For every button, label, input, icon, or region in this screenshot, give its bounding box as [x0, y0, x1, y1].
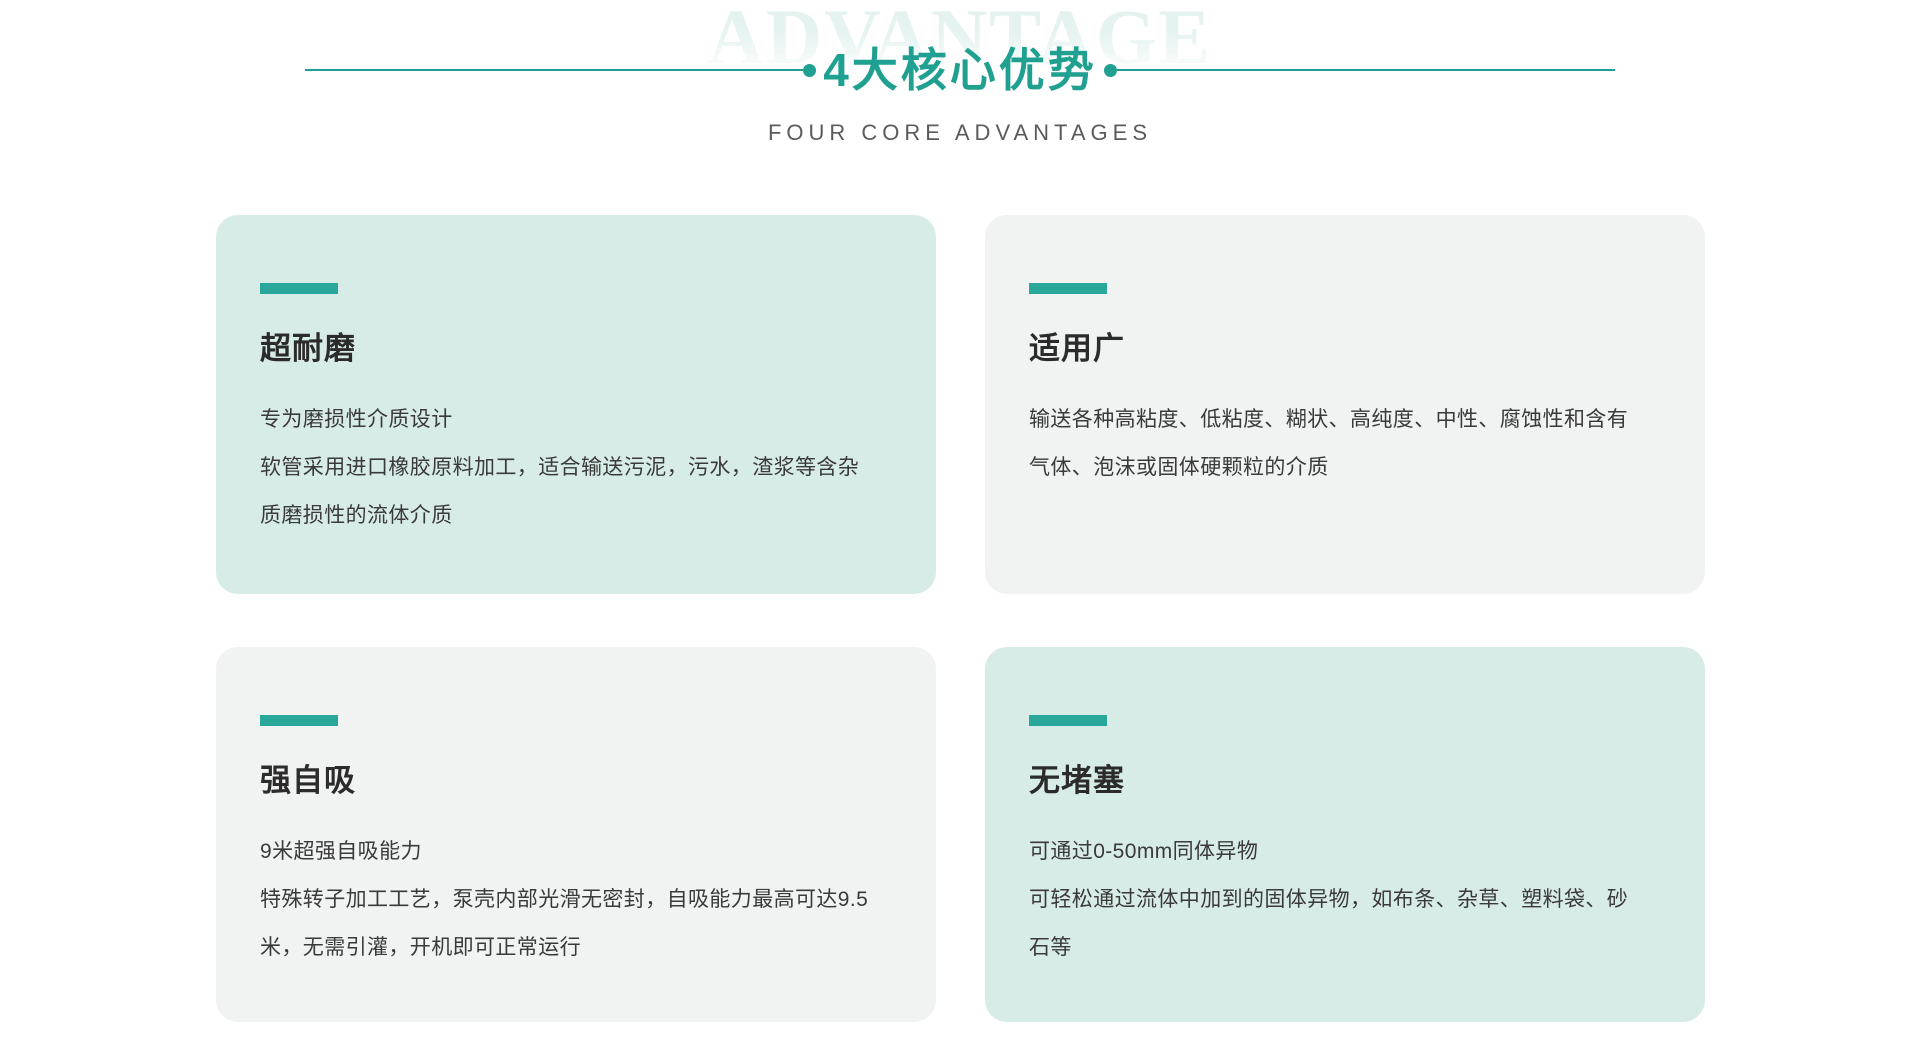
- card-line: 特殊转子加工工艺，泵壳内部光滑无密封，自吸能力最高可达9.5米，无需引灌，开机即…: [260, 876, 870, 972]
- right-rule: [1117, 69, 1615, 71]
- accent-bar-icon: [1029, 283, 1107, 294]
- accent-bar-icon: [1029, 715, 1107, 726]
- advantage-card-grid: 超耐磨 专为磨损性介质设计 软管采用进口橡胶原料加工，适合输送污泥，污水，渣浆等…: [216, 215, 1705, 1022]
- right-dot-icon: [1104, 64, 1117, 77]
- card-line: 可轻松通过流体中加到的固体异物，如布条、杂草、塑料袋、砂石等: [1029, 876, 1639, 972]
- card-line: 软管采用进口橡胶原料加工，适合输送污泥，污水，渣浆等含杂质磨损性的流体介质: [260, 444, 870, 540]
- page-header: ADVANTAGE 4大核心优势 FOUR CORE ADVANTAGES: [0, 0, 1920, 165]
- card-body: 输送各种高粘度、低粘度、糊状、高纯度、中性、腐蚀性和含有气体、泡沫或固体硬颗粒的…: [1029, 396, 1661, 492]
- card-title: 适用广: [1029, 332, 1661, 366]
- left-dot-icon: [803, 64, 816, 77]
- page-subtitle: FOUR CORE ADVANTAGES: [0, 120, 1920, 146]
- left-rule: [305, 69, 803, 71]
- advantage-card-no-clogging: 无堵塞 可通过0-50mm同体异物 可轻松通过流体中加到的固体异物，如布条、杂草…: [985, 647, 1705, 1022]
- page-title: 4大核心优势: [816, 47, 1104, 93]
- card-body: 9米超强自吸能力 特殊转子加工工艺，泵壳内部光滑无密封，自吸能力最高可达9.5米…: [260, 828, 892, 972]
- card-title: 强自吸: [260, 764, 892, 798]
- card-line: 可通过0-50mm同体异物: [1029, 828, 1639, 876]
- card-title: 超耐磨: [260, 332, 892, 366]
- card-line: 专为磨损性介质设计: [260, 396, 870, 444]
- card-line: 输送各种高粘度、低粘度、糊状、高纯度、中性、腐蚀性和含有气体、泡沫或固体硬颗粒的…: [1029, 396, 1639, 492]
- card-body: 可通过0-50mm同体异物 可轻松通过流体中加到的固体异物，如布条、杂草、塑料袋…: [1029, 828, 1661, 972]
- advantage-card-strong-self-priming: 强自吸 9米超强自吸能力 特殊转子加工工艺，泵壳内部光滑无密封，自吸能力最高可达…: [216, 647, 936, 1022]
- advantage-card-super-wear-resistant: 超耐磨 专为磨损性介质设计 软管采用进口橡胶原料加工，适合输送污泥，污水，渣浆等…: [216, 215, 936, 594]
- card-body: 专为磨损性介质设计 软管采用进口橡胶原料加工，适合输送污泥，污水，渣浆等含杂质磨…: [260, 396, 892, 540]
- title-row: 4大核心优势: [0, 47, 1920, 93]
- accent-bar-icon: [260, 283, 338, 294]
- card-line: 9米超强自吸能力: [260, 828, 870, 876]
- card-title: 无堵塞: [1029, 764, 1661, 798]
- advantage-card-wide-application: 适用广 输送各种高粘度、低粘度、糊状、高纯度、中性、腐蚀性和含有气体、泡沫或固体…: [985, 215, 1705, 594]
- accent-bar-icon: [260, 715, 338, 726]
